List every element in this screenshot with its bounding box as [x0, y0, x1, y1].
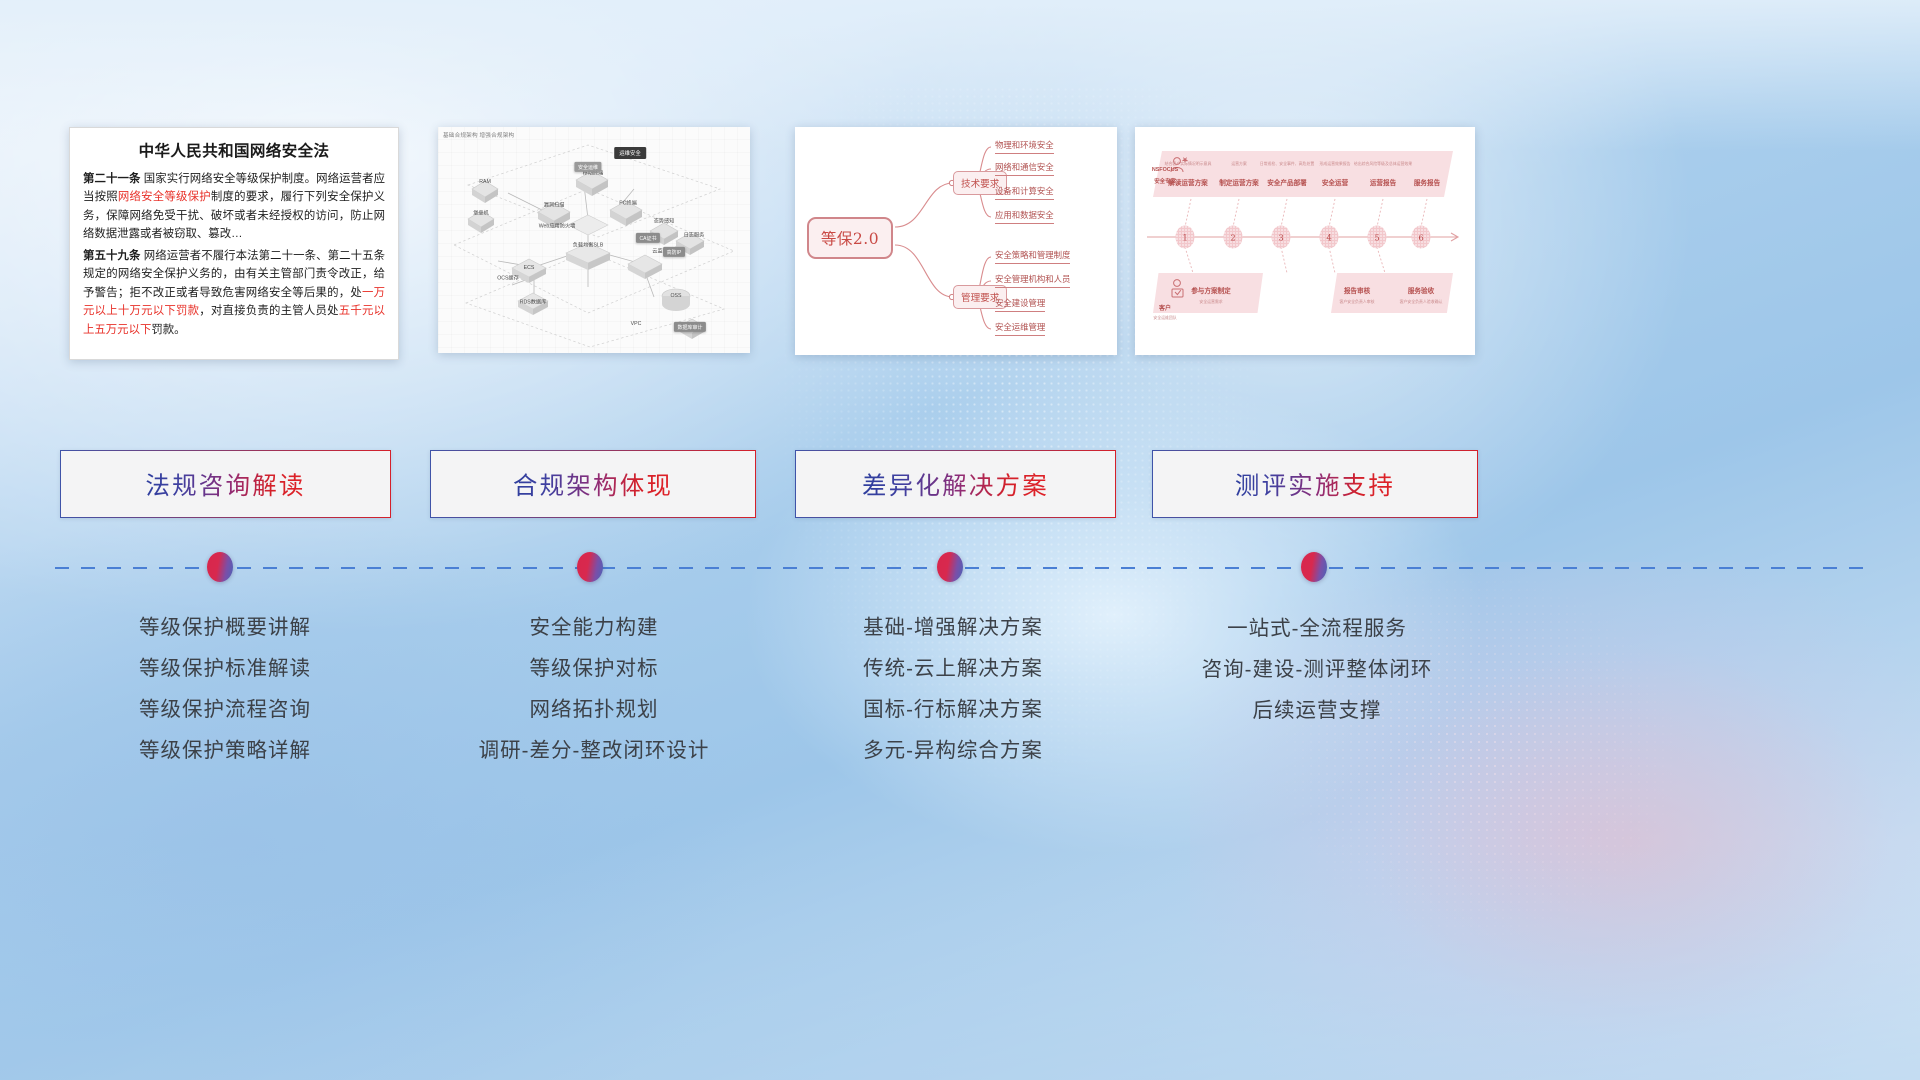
cloud-architecture-card: 基础合规架构 增强合规架构: [438, 127, 750, 353]
node-label-ecs: ECS: [524, 265, 535, 271]
mind-map-card: 等保2.0 技术要求 管理要求 物理和环境安全 网络和通信安全 设备和计算安全 …: [795, 127, 1117, 355]
mind-leaf: 应用和数据安全: [995, 209, 1054, 224]
bullet-list-2: 安全能力构建 等级保护对标 网络拓扑规划 调研-差分-整改闭环设计: [394, 607, 794, 771]
law-paragraph-1: 第二十一条 国家实行网络安全等级保护制度。网络运营者应当按照网络安全等级保护制度…: [83, 170, 385, 244]
mind-leaf: 安全管理机构和人员: [995, 273, 1070, 288]
law-text: 罚款。: [151, 324, 185, 336]
flow-number: 3: [1272, 226, 1291, 249]
customer-sub: 安全运维团队: [1153, 315, 1176, 321]
flow-step-sub: 形成运营效果报告: [1319, 161, 1350, 167]
chip-db-audit: 数据库审计: [674, 322, 706, 332]
flow-step-sub: 安全运营需求: [1199, 299, 1222, 305]
list-item: 网络拓扑规划: [394, 689, 794, 730]
bullet-list-1: 等级保护概要讲解 等级保护标准解读 等级保护流程咨询 等级保护策略详解: [25, 607, 425, 771]
label-box-2-text: 合规架构体现: [513, 467, 673, 502]
service-flow-card: 解读运营方案 结合客户实际情况明示意具 制定运营方案 运营方案 安全产品部署 日…: [1135, 127, 1475, 355]
node-label-waf: Web应用防火墙: [539, 223, 576, 230]
mind-leaf: 物理和环境安全: [995, 139, 1054, 154]
mind-leaf: 安全运维管理: [995, 321, 1045, 336]
list-item: 后续运营支撑: [1117, 690, 1517, 731]
law-title: 中华人民共和国网络安全法: [83, 139, 385, 161]
flow-step-title: 运营报告: [1370, 177, 1396, 187]
label-box-2[interactable]: 合规架构体现: [430, 450, 756, 518]
node-label-situational: 态势感知: [654, 218, 675, 225]
flow-step-title: 安全产品部署: [1267, 177, 1307, 187]
bullet-list-3: 基础-增强解决方案 传统-云上解决方案 国标-行标解决方案 多元-异构综合方案: [753, 607, 1153, 771]
customer-label: 客户: [1159, 303, 1171, 312]
mind-leaf: 设备和计算安全: [995, 185, 1054, 200]
node-label-oss: OSS: [671, 293, 682, 299]
timeline: [55, 566, 1865, 570]
timeline-dot-1[interactable]: [207, 552, 233, 582]
flow-step-sub: 给出综合风险等级及总体运营效果: [1354, 161, 1412, 167]
flow-number: 2: [1224, 226, 1243, 249]
architecture-diagram: [438, 127, 750, 353]
node-label-log: 日志服务: [684, 232, 705, 239]
mind-leaf: 网络和通信安全: [995, 161, 1054, 176]
flow-number: 4: [1320, 226, 1339, 249]
list-item: 安全能力构建: [394, 607, 794, 648]
node-label-pc: PC终端: [619, 200, 637, 207]
mind-leaf: 安全建设管理: [995, 297, 1045, 312]
expert-role: 安全专家: [1154, 177, 1176, 185]
list-item: 国标-行标解决方案: [753, 689, 1153, 730]
bullet-list-4: 一站式-全流程服务 咨询-建设-测评整体闭环 后续运营支撑: [1117, 608, 1517, 731]
list-item: 基础-增强解决方案: [753, 607, 1153, 648]
label-box-1-text: 法规咨询解读: [145, 467, 305, 502]
law-article-label: 第二十一条: [83, 173, 140, 185]
list-item: 等级保护标准解读: [25, 648, 425, 689]
column-2: 基础合规架构 增强合规架构: [430, 0, 830, 1080]
column-4: 解读运营方案 结合客户实际情况明示意具 制定运营方案 运营方案 安全产品部署 日…: [1150, 0, 1550, 1080]
flow-step-sub: 客户安全负责人验收确认: [1400, 299, 1443, 305]
law-text: ，对直接负责的主管人员处: [199, 305, 338, 317]
list-item: 多元-异构综合方案: [753, 730, 1153, 771]
label-box-3-text: 差异化解决方案: [862, 467, 1049, 502]
list-item: 等级保护流程咨询: [25, 689, 425, 730]
flow-step-sub: 日常巡检、安全事件、高危处置: [1260, 161, 1314, 167]
flow-number: 1: [1176, 226, 1195, 249]
flow-number: 5: [1368, 226, 1387, 249]
column-1: 中华人民共和国网络安全法 第二十一条 国家实行网络安全等级保护制度。网络运营者应…: [55, 0, 455, 1080]
flow-step-title: 报告审核: [1344, 285, 1370, 295]
node-label-bastion: 堡垒机: [473, 210, 489, 217]
node-label-ocs: OCS缓存: [497, 275, 519, 282]
list-item: 传统-云上解决方案: [753, 648, 1153, 689]
list-item: 一站式-全流程服务: [1117, 608, 1517, 649]
list-item: 调研-差分-整改闭环设计: [394, 730, 794, 771]
label-box-3[interactable]: 差异化解决方案: [795, 450, 1116, 518]
chip-ops-security: 运维安全: [614, 147, 646, 159]
flow-step-title: 服务报告: [1414, 177, 1440, 187]
node-label-vpc: VPC: [631, 321, 642, 327]
label-box-4[interactable]: 测评实施支持: [1152, 450, 1478, 518]
node-label-vulnscan: 漏洞扫描: [544, 202, 565, 209]
mind-leaf: 安全策略和管理制度: [995, 249, 1070, 264]
node-label-rds: RDS数据库: [520, 299, 547, 306]
law-paragraph-2: 第五十九条 网络运营者不履行本法第二十一条、第二十五条规定的网络安全保护义务的，…: [83, 247, 385, 339]
timeline-dot-3[interactable]: [937, 552, 963, 582]
flow-step-sub: 运营方案: [1231, 161, 1247, 167]
flow-step-title: 服务验收: [1408, 285, 1434, 295]
chip-ca-cert: CA证书: [636, 233, 660, 243]
timeline-dot-2[interactable]: [577, 552, 603, 582]
law-document-card: 中华人民共和国网络安全法 第二十一条 国家实行网络安全等级保护制度。网络运营者应…: [69, 127, 399, 360]
law-highlight: 网络安全等级保护: [118, 191, 211, 203]
chip-anti-ddos: 高防IP: [663, 247, 685, 257]
flow-step-title: 安全运营: [1322, 177, 1348, 187]
flow-step-sub: 客户安全负责人审核: [1339, 299, 1374, 305]
law-article-label: 第五十九条: [83, 250, 140, 262]
list-item: 咨询-建设-测评整体闭环: [1117, 649, 1517, 690]
flow-number: 6: [1412, 226, 1431, 249]
flow-step-title: 制定运营方案: [1219, 177, 1259, 187]
list-item: 等级保护概要讲解: [25, 607, 425, 648]
node-label-ram: RAM: [479, 179, 491, 185]
expert-name: NSFOCUS: [1152, 167, 1178, 173]
node-label-slb: 负载均衡SLB: [573, 242, 604, 249]
timeline-dot-4[interactable]: [1301, 552, 1327, 582]
label-box-1[interactable]: 法规咨询解读: [60, 450, 391, 518]
mind-map-root: 等保2.0: [807, 217, 893, 259]
label-box-4-text: 测评实施支持: [1235, 467, 1395, 502]
list-item: 等级保护策略详解: [25, 730, 425, 771]
flow-step-title: 参与方案制定: [1191, 285, 1231, 295]
chip-security-ops: 安全运维: [574, 162, 601, 172]
list-item: 等级保护对标: [394, 648, 794, 689]
